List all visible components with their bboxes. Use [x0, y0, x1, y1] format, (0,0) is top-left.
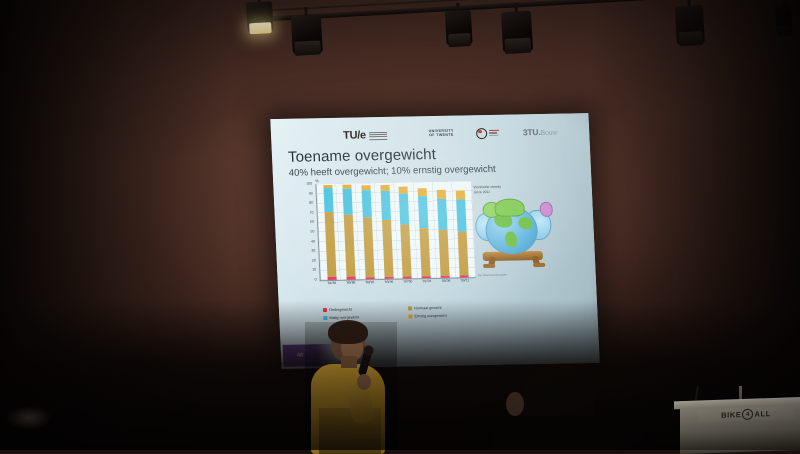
bar-segment	[441, 276, 450, 278]
tu3-main-text: 3TU.	[523, 127, 541, 137]
y-axis-tick: 50	[310, 231, 314, 235]
sign-number-badge: 4	[742, 409, 753, 420]
bar-group	[316, 181, 475, 280]
bar-segment	[346, 277, 355, 280]
bar-segment	[420, 228, 431, 276]
bar-segment	[363, 217, 375, 278]
stacked-bar	[323, 184, 336, 280]
bar-segment	[401, 225, 412, 277]
stacked-bar	[399, 183, 412, 279]
globe-arm-accent	[539, 202, 553, 217]
stacked-bar	[361, 183, 374, 279]
bar-segment	[439, 230, 450, 276]
x-axis-tick-label: '81/'84	[324, 281, 338, 286]
y-axis-tick: 70	[310, 211, 314, 215]
bar-segment	[418, 188, 427, 197]
sign-text-right: ALL	[754, 409, 770, 419]
audience-member-silhouette	[500, 364, 640, 450]
tu3-bouw-logo: 3TU.Bouw	[523, 127, 558, 138]
bar-segment	[344, 214, 356, 276]
x-axis-tick-label: '05/'08	[438, 279, 452, 284]
bar-segment	[365, 277, 374, 279]
partner-circle-logo	[476, 127, 500, 138]
bar-segment	[418, 197, 428, 229]
x-axis-tick-label: '97/'00	[400, 279, 414, 284]
bar-segment	[456, 190, 465, 200]
bar-segment	[323, 188, 333, 212]
y-axis-tick: 20	[312, 259, 316, 263]
bar-segment	[460, 275, 469, 277]
tue-logo-text: TU/e	[343, 130, 366, 141]
y-axis-tick: 100	[306, 183, 312, 187]
slide-title: Toename overgewicht	[288, 146, 437, 166]
x-axis-tick-label: '01/'04	[419, 279, 433, 284]
stacked-bar	[418, 182, 431, 278]
illustration-caption-line2: since 2011	[474, 190, 490, 194]
bar-segment	[342, 188, 352, 214]
globe-bulge-top	[494, 198, 525, 217]
x-axis-tick-label: '85/'88	[343, 280, 357, 285]
stacked-bar	[380, 183, 393, 279]
bar-segment	[382, 220, 394, 277]
floor-glow	[6, 406, 52, 430]
bar-segment	[422, 276, 431, 278]
illustration-caption: Worldwide obesity since 2011	[474, 185, 502, 195]
y-axis-unit-label: %	[315, 178, 319, 183]
y-axis-tick: 0	[315, 278, 317, 282]
stage-light-2	[291, 14, 323, 54]
bar-segment	[399, 193, 409, 225]
bar-segment	[437, 190, 446, 200]
bar-segment	[325, 212, 337, 277]
audience-shoulders	[490, 416, 650, 450]
bar-segment	[456, 200, 466, 232]
chart-plot-area	[315, 181, 475, 281]
university-of-twente-logo: UNIVERSITY OF TWENTE	[429, 130, 454, 138]
tue-logo-lines	[369, 132, 387, 141]
y-axis-tick: 80	[309, 202, 313, 206]
y-axis-tick: 10	[312, 269, 316, 273]
bar-segment	[361, 190, 371, 217]
bar-segment	[327, 277, 336, 280]
stacked-bar-chart: % 1009080706050403020100 '81/'84'85/'88'…	[293, 181, 476, 300]
audience-ear	[506, 392, 524, 416]
presenter-shading	[305, 322, 397, 450]
logo-bars-icon	[489, 130, 499, 137]
sign-text-left: BIKE	[721, 410, 741, 420]
y-axis-tick: 90	[309, 192, 313, 196]
y-axis-tick: 40	[311, 240, 315, 244]
tu3-sub-text: Bouw	[540, 130, 557, 137]
slide-logo-bar: TU/e UNIVERSITY OF TWENTE 3TU.Bouw	[285, 120, 580, 148]
illustration-credit: The Chemical Chronicles	[478, 274, 507, 278]
globe-artwork	[476, 198, 549, 263]
continent-east	[518, 217, 533, 229]
continent-south	[505, 231, 518, 247]
presenter	[305, 322, 397, 450]
stacked-bar	[455, 181, 468, 277]
lectern-sign: BIKE 4 ALL	[698, 406, 794, 422]
x-axis-tick-label: '89/'92	[362, 280, 376, 285]
lamp-lens	[295, 40, 321, 56]
stacked-bar	[342, 184, 355, 280]
y-axis-tick: 60	[310, 221, 314, 225]
lamp-lens	[249, 22, 271, 35]
auditorium-room: TU/e UNIVERSITY OF TWENTE 3TU.Bouw	[0, 0, 800, 450]
x-axis-tick-label: '93/'96	[381, 280, 395, 285]
bench-foot-right	[533, 263, 545, 267]
stage-light-4	[501, 11, 533, 53]
lectern: BIKE 4 ALL	[680, 402, 800, 454]
bench-foot-left	[483, 264, 495, 268]
ut-logo-line2: OF TWENTE	[429, 134, 454, 138]
x-axis-tick-label: '09/'11	[457, 278, 471, 283]
stage-light-1	[246, 1, 274, 32]
bar-segment	[437, 199, 447, 230]
bar-segment	[380, 191, 390, 221]
tue-logo: TU/e	[343, 129, 387, 141]
bar-segment	[403, 277, 412, 279]
bar-segment	[458, 231, 469, 275]
stacked-bar	[437, 182, 450, 278]
slide-subtitle: 40% heeft overgewicht; 10% ernstig overg…	[289, 164, 496, 179]
stage-light-3	[445, 10, 473, 45]
circle-ring-icon	[476, 128, 488, 139]
lamp-lens	[448, 33, 471, 47]
lamp-lens	[505, 37, 531, 54]
bar-segment	[384, 277, 393, 279]
obese-globe-illustration: Worldwide obesity since 2011	[470, 184, 556, 277]
y-axis-tick: 30	[311, 250, 315, 254]
